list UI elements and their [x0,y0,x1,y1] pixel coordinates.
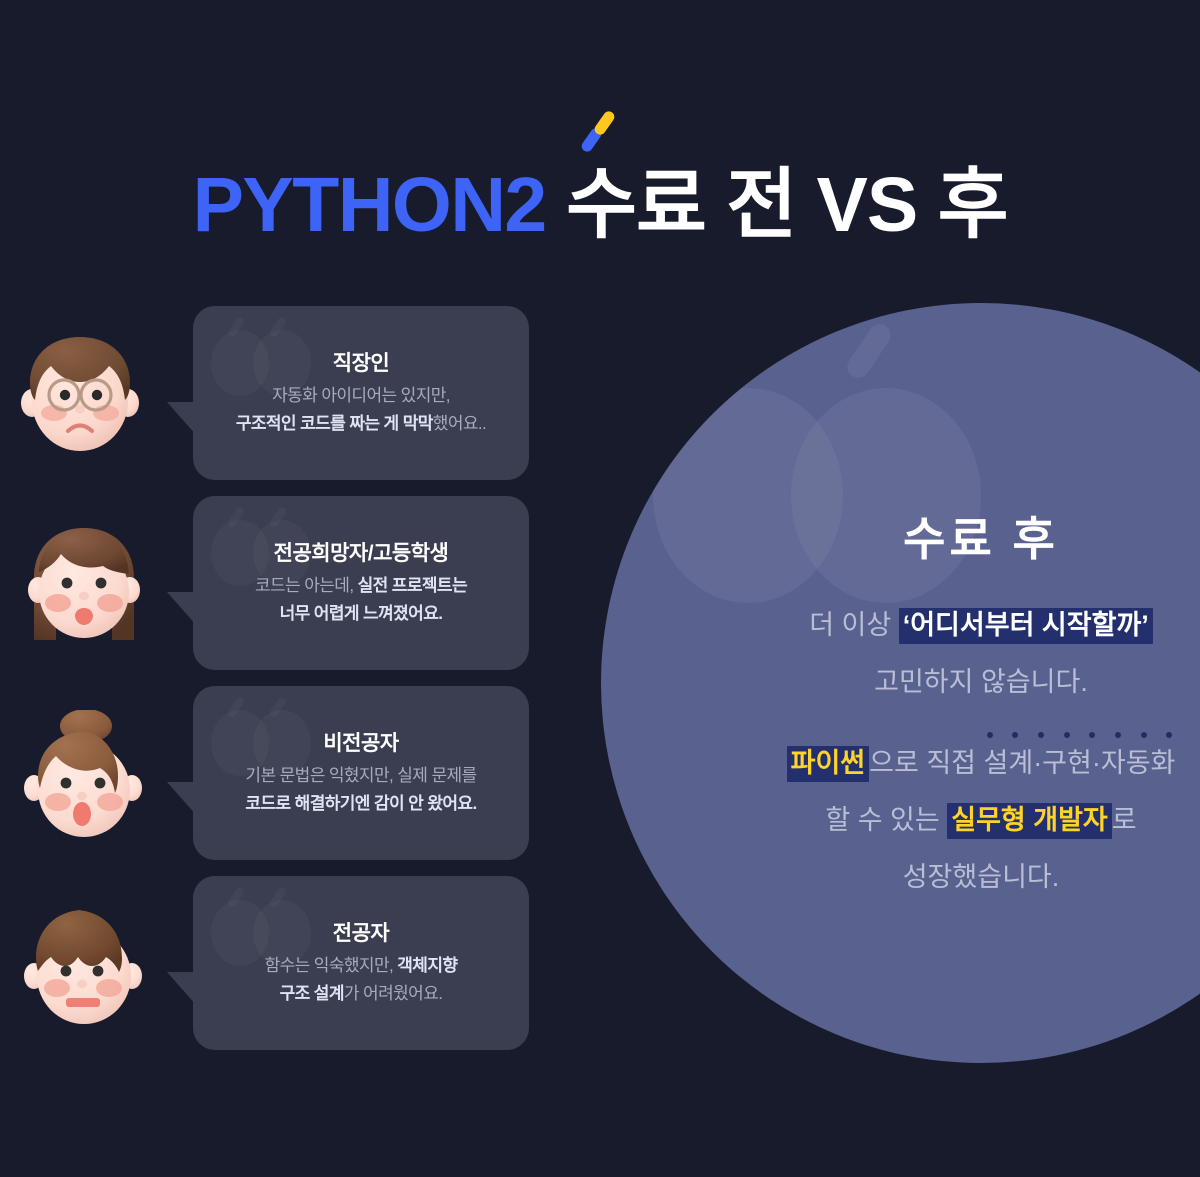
testimonial-role: 직장인 [193,347,529,377]
after-line3-highlight: 파이썬 [787,746,870,782]
testimonial-line1: 코드는 아는데, 실전 프로젝트는 [193,572,529,600]
testimonial-bubble-1: 직장인 자동화 아이디어는 있지만, 구조적인 코드를 짜는 게 막막했어요.. [193,306,529,480]
after-line1-prefix: 더 이상 [809,610,899,640]
after-line1-highlight: ‘어디서부터 시작할까’ [899,608,1153,644]
after-line4-suffix: 로 [1112,805,1137,835]
testimonial-bubble-2: 전공희망자/고등학생 코드는 아는데, 실전 프로젝트는 너무 어렵게 느껴졌어… [193,496,529,670]
testimonial-role: 비전공자 [193,727,529,757]
title-rest: 수료 전 VS 후 [566,162,1007,248]
bun-hair-woman-surprised-avatar [14,710,154,850]
testimonial-text: 기본 문법은 익혔지만, 실제 문제를 코드로 해결하기엔 감이 안 왔어요. [193,762,529,818]
after-line3-mid: 으로 직접 [869,748,983,778]
bowl-cut-boy-neutral-avatar [14,898,154,1038]
testimonial-line1: 기본 문법은 익혔지만, 실제 문제를 [193,762,529,790]
after-line4-highlight: 실무형 개발자 [947,803,1112,839]
office-worker-glasses-frowning-avatar [10,325,150,465]
testimonial-bubble-4: 전공자 함수는 익숙했지만, 객체지향 구조 설계가 어려웠어요. [193,876,529,1050]
testimonial-line2: 구조적인 코드를 짜는 게 막막했어요.. [193,410,529,438]
testimonial-line1: 자동화 아이디어는 있지만, [193,382,529,410]
testimonial-line1: 함수는 익숙했지만, 객체지향 [193,952,529,980]
after-heading: 수료 후 [601,503,1200,569]
testimonial-text: 코드는 아는데, 실전 프로젝트는 너무 어렵게 느껴졌어요. [193,572,529,628]
testimonial-role: 전공자 [193,917,529,947]
after-line3-emphasis: 설계·구현·자동화 [984,748,1176,778]
after-line2: 고민하지 않습니다. [601,654,1200,711]
testimonial-line2: 너무 어렵게 느껴졌어요. [193,600,529,628]
after-body-text: 더 이상 ‘어디서부터 시작할까’ 고민하지 않습니다. 파이썬으로 직접 설계… [601,597,1200,906]
testimonial-line2: 코드로 해결하기엔 감이 안 왔어요. [193,790,529,818]
testimonial-line2: 구조 설계가 어려웠어요. [193,980,529,1008]
after-line5: 성장했습니다. [601,849,1200,906]
page-title: PYTHON2 수료 전 VS 후 [0,150,1200,260]
after-panel: 수료 후 더 이상 ‘어디서부터 시작할까’ 고민하지 않습니다. 파이썬으로 … [601,303,1200,1063]
long-hair-girl-surprised-avatar [14,520,154,660]
pencil-slash-icon [582,108,616,154]
after-line4-prefix: 할 수 있는 [825,805,947,835]
testimonial-text: 자동화 아이디어는 있지만, 구조적인 코드를 짜는 게 막막했어요.. [193,382,529,438]
testimonial-bubble-3: 비전공자 기본 문법은 익혔지만, 실제 문제를 코드로 해결하기엔 감이 안 … [193,686,529,860]
title-brand: PYTHON2 [193,162,546,248]
testimonial-text: 함수는 익숙했지만, 객체지향 구조 설계가 어려웠어요. [193,952,529,1008]
testimonial-role: 전공희망자/고등학생 [193,537,529,567]
